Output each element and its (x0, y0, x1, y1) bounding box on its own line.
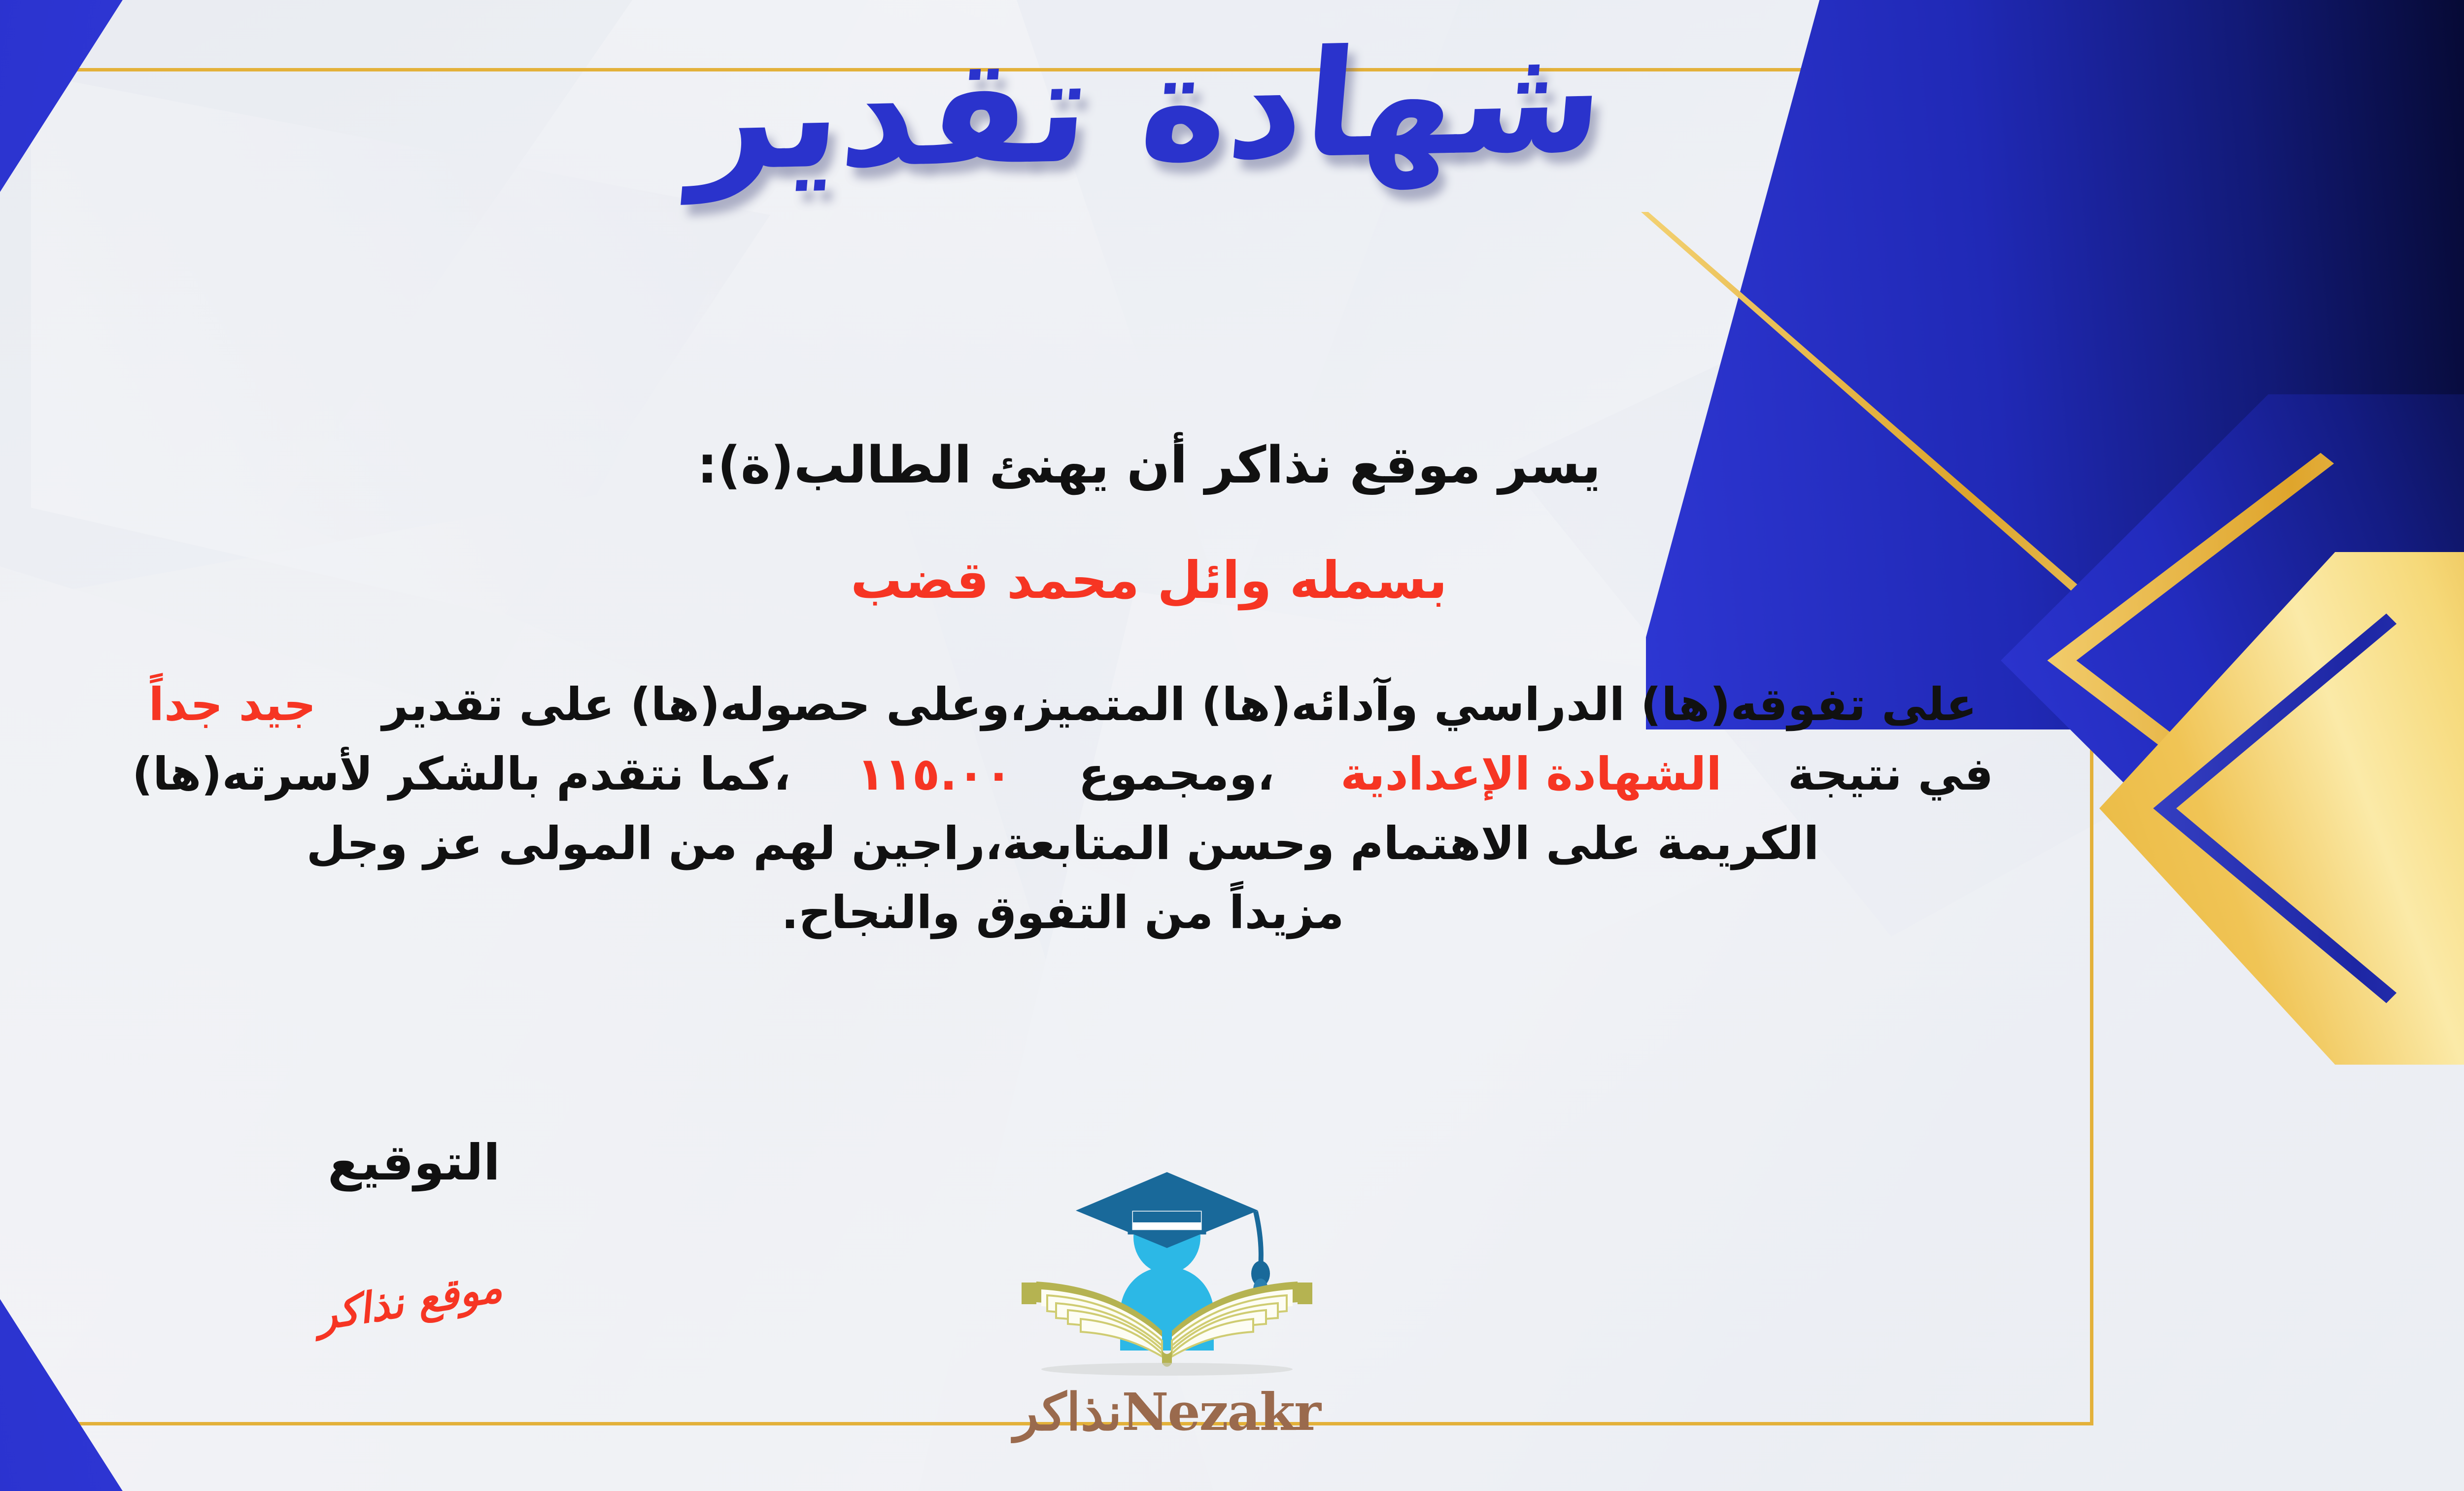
certificate-content: شهادة تقدير يسر موقع نذاكر أن يهنئ الطال… (0, 0, 2464, 1491)
student-name: بسمله وائل محمد قضب (208, 550, 2089, 611)
logo-wordmark: Nezakrنذاكر (962, 1382, 1371, 1442)
body-line-2-suffix: ،كما نتقدم بالشكر لأسرته(ها) (132, 748, 791, 800)
signature-label: التوقيع (241, 1134, 586, 1191)
grade-value: جيد جداً (148, 678, 316, 731)
certificate-canvas: شهادة تقدير يسر موقع نذاكر أن يهنئ الطال… (0, 0, 2464, 1491)
certificate-title: شهادة تقدير (0, 7, 2464, 210)
signature-handwriting: موقع نذاكر (244, 1251, 573, 1351)
certificate-body: على تفوقه(ها) الدراسي وآدائه(ها) المتميز… (0, 670, 2168, 948)
nezakr-logo: Nezakrنذاكر (962, 1129, 1371, 1434)
body-line-2-prefix: في نتيجة (1788, 748, 1993, 800)
body-line-4: مزيداً من التفوق والنجاح. (782, 886, 1344, 939)
body-line-1-text: على تفوقه(ها) الدراسي وآدائه(ها) المتميز… (382, 678, 1977, 731)
greeting-line: يسر موقع نذاكر أن يهنئ الطالب(ة): (208, 434, 2089, 497)
body-line-2-mid: ،ومجموع (1078, 748, 1274, 800)
total-score-value: ١١٥.٠٠ (857, 740, 1013, 809)
body-line-3: الكريمة على الاهتمام وحسن المتابعة،راجين… (307, 817, 1819, 870)
stage-value: الشهادة الإعدادية (1340, 748, 1722, 800)
